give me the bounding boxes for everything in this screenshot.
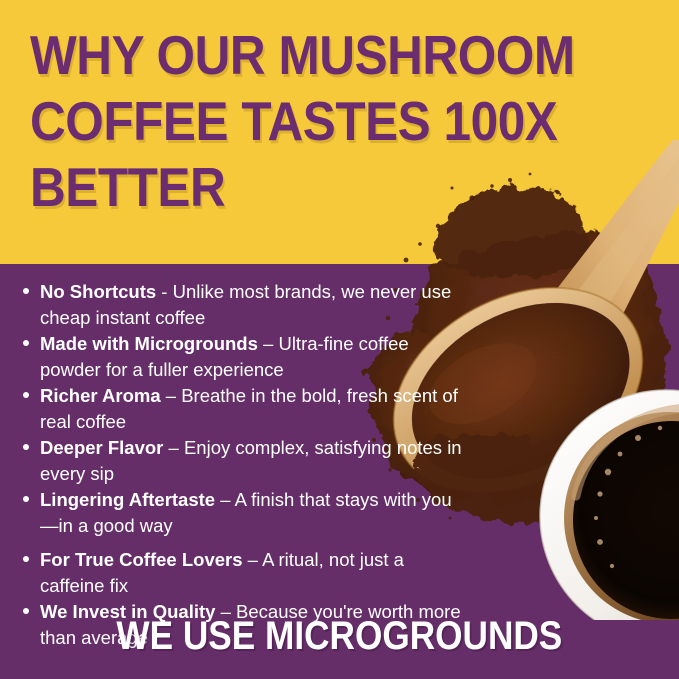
bullet-dot-icon	[23, 496, 29, 502]
benefits-list: No Shortcuts - Unlike most brands, we ne…	[18, 279, 470, 651]
bottom-banner: WE USE MICROGROUNDS	[0, 614, 679, 666]
bullet-dot-icon	[23, 340, 29, 346]
list-item-lead: Lingering Aftertaste	[40, 489, 215, 510]
promo-poster: WHY OUR MUSHROOM COFFEE TASTES 100X BETT…	[0, 0, 679, 679]
list-item-lead: Made with Microgrounds	[40, 333, 258, 354]
list-item: For True Coffee Lovers – A ritual, not j…	[18, 547, 470, 598]
list-item-lead: No Shortcuts	[40, 281, 156, 302]
list-item: Richer Aroma – Breathe in the bold, fres…	[18, 383, 470, 434]
headline-line-2: COFFEE TASTES 100X	[30, 88, 534, 154]
bullet-dot-icon	[23, 392, 29, 398]
list-item: No Shortcuts - Unlike most brands, we ne…	[18, 279, 470, 330]
bullet-dot-icon	[23, 444, 29, 450]
headline-line-3: BETTER	[30, 154, 534, 220]
list-item: Lingering Aftertaste – A finish that sta…	[18, 487, 470, 538]
list-item: Made with Microgrounds – Ultra-fine coff…	[18, 331, 470, 382]
list-item: Deeper Flavor – Enjoy complex, satisfyin…	[18, 435, 470, 486]
list-item-lead: Deeper Flavor	[40, 437, 163, 458]
headline: WHY OUR MUSHROOM COFFEE TASTES 100X BETT…	[30, 22, 534, 220]
list-item-lead: For True Coffee Lovers	[40, 549, 243, 570]
bullet-dot-icon	[23, 556, 29, 562]
banner-text: WE USE MICROGROUNDS	[117, 614, 563, 658]
headline-line-1: WHY OUR MUSHROOM	[30, 22, 534, 88]
bullet-dot-icon	[23, 288, 29, 294]
list-item-lead: Richer Aroma	[40, 385, 161, 406]
